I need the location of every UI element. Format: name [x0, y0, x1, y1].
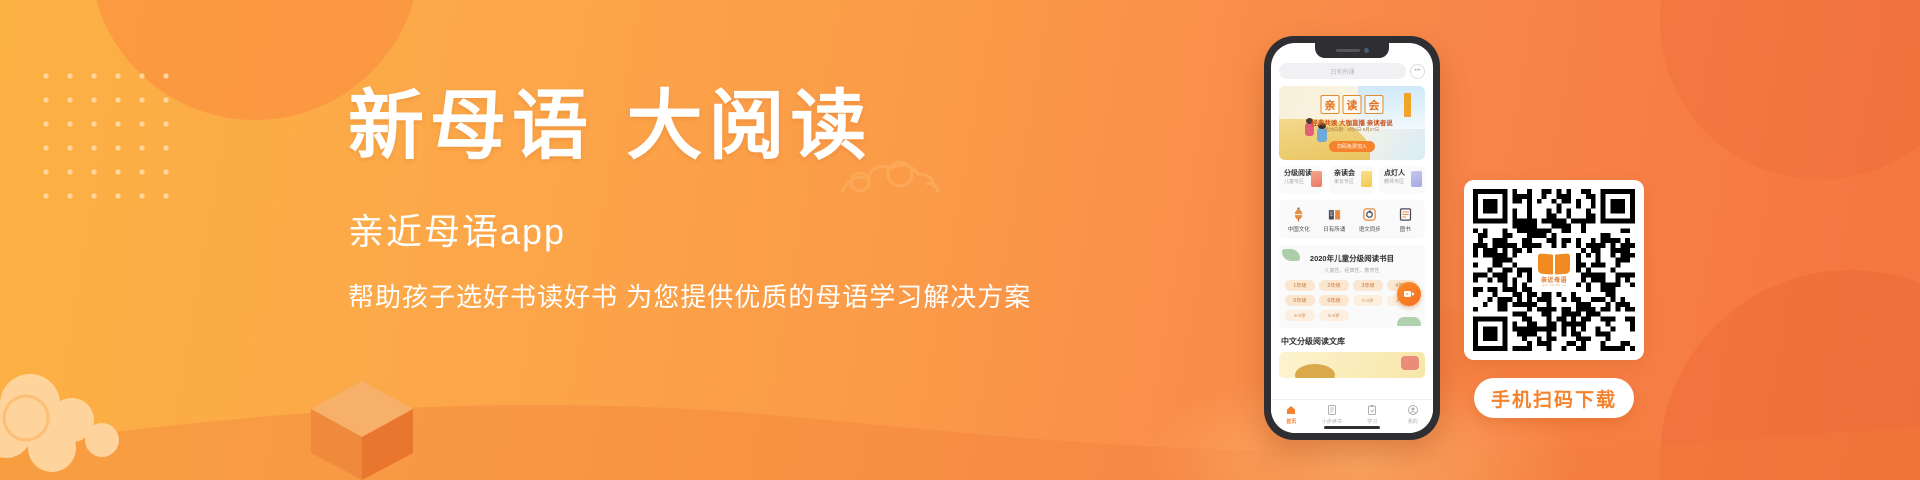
note-icon	[1361, 171, 1372, 187]
decorative-circle-bottom-right	[1660, 270, 1920, 480]
reading-icon	[1326, 404, 1338, 416]
booklist-section: 2020年儿童分级阅读书目 儿童性、经典性、教育性 1年级 2年级 3年级 4年…	[1279, 245, 1425, 328]
play-video-icon	[1403, 288, 1415, 300]
qr-center-logo: 亲近母语 QIN JIN MU YU	[1532, 248, 1576, 292]
grade-chip[interactable]: 1年级	[1285, 280, 1315, 291]
promo-subtitle: 经典共读 大咖直播 亲读者说	[1311, 117, 1393, 127]
phone-mockup: 日有所诵 ••• 亲 读 会 经典共读 大咖直播 亲读者说 活动日期：9	[1264, 36, 1440, 440]
qr-download-block: 亲近母语 QIN JIN MU YU 手机扫码下载	[1464, 180, 1644, 418]
promo-title-char: 会	[1365, 95, 1384, 114]
quick-link-chinese-culture[interactable]: 中国文化	[1282, 207, 1316, 233]
tab-home[interactable]: 首页	[1274, 404, 1308, 425]
decorative-circle-top-right	[1660, 0, 1920, 180]
user-circle-icon	[1407, 404, 1419, 416]
age-chip[interactable]: 0-3岁	[1353, 295, 1383, 306]
promo-title-char: 亲	[1321, 95, 1340, 114]
quick-link-books[interactable]: 图书	[1388, 207, 1422, 233]
booklist-subtitle: 儿童性、经典性、教育性	[1285, 267, 1419, 274]
library-illustration-hill	[1295, 364, 1335, 378]
promo-flag-icon	[1404, 93, 1411, 117]
category-card-row: 分级阅读 儿童专区 亲读会 家长专区 点灯人 教师专区	[1279, 166, 1425, 194]
home-icon	[1285, 404, 1297, 416]
grade-chip-grid: 1年级 2年级 3年级 4年级 5年级 6年级 0-3岁 3-4岁 4-5岁 5…	[1285, 280, 1419, 321]
speaker-grille	[1336, 49, 1360, 52]
promo-date: 活动日期：9月6日-9月27日	[1325, 127, 1380, 133]
promo-banner: 新母语 大阅读 亲近母语app 帮助孩子选好书读好书 为您提供优质的母语学习解决…	[0, 0, 1920, 480]
grade-chip[interactable]: 3年级	[1353, 280, 1383, 291]
category-card-graded-reading[interactable]: 分级阅读 儿童专区	[1279, 166, 1325, 194]
logo-page-left	[1538, 253, 1553, 274]
lantern-icon	[1291, 207, 1306, 222]
headline-block: 新母语 大阅读 亲近母语app 帮助孩子选好书读好书 为您提供优质的母语学习解决…	[348, 86, 1048, 315]
promo-title: 亲 读 会	[1321, 95, 1384, 114]
library-banner-card[interactable]	[1279, 352, 1425, 378]
sync-icon	[1362, 207, 1377, 222]
tab-label: 学习	[1367, 418, 1377, 425]
tab-reading[interactable]: 小步读书	[1315, 404, 1349, 425]
phone-notch	[1315, 43, 1389, 58]
category-card-parent-club[interactable]: 亲读会 家长专区	[1329, 166, 1375, 194]
app-name-subtitle: 亲近母语app	[348, 210, 1048, 253]
more-options-icon[interactable]: •••	[1410, 64, 1425, 79]
tab-label: 我的	[1408, 418, 1418, 425]
logo-text-en: QIN JIN MU YU	[1542, 284, 1565, 287]
tab-study[interactable]: 学习	[1355, 404, 1389, 425]
booklist-title: 2020年儿童分级阅读书目	[1285, 253, 1419, 264]
home-indicator	[1324, 426, 1380, 429]
cube-shape-icon	[305, 375, 420, 480]
open-book-logo-icon	[1538, 254, 1570, 274]
quick-links-row: 中国文化 日有所诵	[1279, 200, 1425, 239]
grade-chip[interactable]: 5年级	[1285, 295, 1315, 306]
app-content: 日有所诵 ••• 亲 读 会 经典共读 大咖直播 亲读者说 活动日期：9	[1271, 43, 1433, 399]
search-input[interactable]: 日有所诵	[1279, 63, 1406, 79]
quick-link-textbook-sync[interactable]: 语文同步	[1353, 207, 1387, 233]
quick-link-label: 日有所诵	[1323, 225, 1345, 233]
quick-link-label: 中国文化	[1288, 225, 1310, 233]
grade-chip[interactable]: 6年级	[1319, 295, 1349, 306]
age-chip[interactable]: 4-5岁	[1285, 310, 1315, 321]
search-row: 日有所诵 •••	[1279, 63, 1425, 79]
quick-link-label: 图书	[1400, 225, 1411, 233]
download-button[interactable]: 手机扫码下载	[1474, 378, 1634, 418]
age-chip[interactable]: 5-6岁	[1319, 310, 1349, 321]
logo-page-right	[1555, 253, 1570, 274]
promo-join-button[interactable]: 扫码免费加入	[1329, 141, 1375, 152]
phone-screen: 日有所诵 ••• 亲 读 会 经典共读 大咖直播 亲读者说 活动日期：9	[1271, 43, 1433, 433]
library-section-title: 中文分级阅读文库	[1281, 336, 1425, 347]
quick-link-daily-recite[interactable]: 日有所诵	[1317, 207, 1351, 233]
book-open-icon	[1327, 207, 1342, 222]
tab-profile[interactable]: 我的	[1396, 404, 1430, 425]
library-illustration-book	[1401, 356, 1419, 370]
books-icon	[1398, 207, 1413, 222]
qr-code-card[interactable]: 亲近母语 QIN JIN MU YU	[1464, 180, 1644, 360]
bookmark-icon	[1311, 171, 1322, 187]
clipboard-check-icon	[1366, 404, 1378, 416]
play-video-button[interactable]	[1397, 282, 1421, 306]
logo-text-cn: 亲近母语	[1541, 275, 1567, 284]
tab-label: 小步读书	[1322, 418, 1342, 425]
tab-label: 首页	[1286, 418, 1296, 425]
cloud-motif-left-icon	[0, 356, 166, 480]
front-camera-icon	[1364, 48, 1369, 53]
tagline-text: 帮助孩子选好书读好书 为您提供优质的母语学习解决方案	[348, 281, 1048, 315]
quick-link-label: 语文同步	[1359, 225, 1381, 233]
dot-grid-pattern	[30, 60, 170, 210]
person-icon	[1411, 171, 1422, 187]
page-title: 新母语 大阅读	[348, 86, 1048, 166]
grade-chip[interactable]: 2年级	[1319, 280, 1349, 291]
promo-title-char: 读	[1343, 95, 1362, 114]
category-card-teacher[interactable]: 点灯人 教师专区	[1379, 166, 1425, 194]
promo-card[interactable]: 亲 读 会 经典共读 大咖直播 亲读者说 活动日期：9月6日-9月27日 扫码免…	[1279, 86, 1425, 160]
